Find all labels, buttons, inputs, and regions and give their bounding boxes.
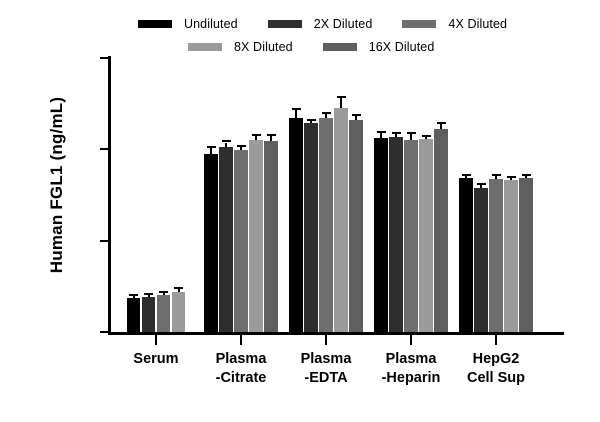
error-bar-cap: [507, 176, 516, 178]
error-bar-stem: [465, 176, 467, 178]
legend-item-8x-diluted[interactable]: 8X Diluted: [188, 40, 293, 54]
legend-label: 2X Diluted: [314, 17, 373, 31]
bar-2x-diluted[interactable]: [474, 58, 488, 332]
y-axis-title: Human FGL1 (ng/mL): [47, 40, 67, 330]
y-axis-tick: [100, 240, 109, 242]
x-axis-group-label: Plasma -Citrate: [196, 350, 286, 388]
legend-swatch-icon: [323, 43, 357, 51]
x-axis-tick: [495, 335, 497, 345]
legend-swatch-icon: [402, 20, 436, 28]
legend-label: 16X Diluted: [369, 40, 435, 54]
bar-group-hepg2-cell-sup: [110, 58, 562, 332]
bar-rect: [504, 180, 518, 332]
error-bar-stem: [495, 176, 497, 179]
bar-rect: [474, 188, 488, 332]
bar-8x-diluted[interactable]: [504, 58, 518, 332]
bar-4x-diluted[interactable]: [489, 58, 503, 332]
error-bar-cap: [477, 183, 486, 185]
x-axis-tick: [240, 335, 242, 345]
legend-item-2x-diluted[interactable]: 2X Diluted: [268, 17, 373, 31]
bar-16x-diluted[interactable]: [519, 58, 533, 332]
legend-label: Undiluted: [184, 17, 238, 31]
error-bar-cap: [492, 174, 501, 176]
x-axis-group-label: Plasma -Heparin: [366, 350, 456, 388]
plot-area: 0200400600: [110, 58, 562, 332]
legend-swatch-icon: [138, 20, 172, 28]
x-axis-group-label: HepG2 Cell Sup: [451, 350, 541, 388]
x-axis-tick: [410, 335, 412, 345]
legend-label: 8X Diluted: [234, 40, 293, 54]
legend-swatch-icon: [268, 20, 302, 28]
bar-rect: [519, 178, 533, 332]
legend-swatch-icon: [188, 43, 222, 51]
y-axis-tick: [100, 57, 109, 59]
legend-item-4x-diluted[interactable]: 4X Diluted: [402, 17, 507, 31]
x-axis-tick: [155, 335, 157, 345]
bar-rect: [459, 178, 473, 332]
legend-item-undiluted[interactable]: Undiluted: [138, 17, 238, 31]
legend-label: 4X Diluted: [448, 17, 507, 31]
error-bar-cap: [462, 174, 471, 176]
x-axis-group-label: Plasma -EDTA: [281, 350, 371, 388]
bar-undiluted[interactable]: [459, 58, 473, 332]
legend-row: Undiluted2X Diluted4X Diluted: [130, 12, 590, 35]
legend-row: 8X Diluted16X Diluted: [130, 35, 590, 58]
x-axis-tick: [325, 335, 327, 345]
error-bar-stem: [510, 178, 512, 180]
error-bar-cap: [522, 174, 531, 176]
legend-item-16x-diluted[interactable]: 16X Diluted: [323, 40, 435, 54]
x-axis-group-label: Serum: [111, 350, 201, 369]
chart-legend: Undiluted2X Diluted4X Diluted8X Diluted1…: [130, 12, 590, 62]
y-axis-tick: [100, 331, 109, 333]
error-bar-stem: [525, 176, 527, 178]
bar-chart: Undiluted2X Diluted4X Diluted8X Diluted1…: [0, 0, 600, 422]
error-bar-stem: [480, 185, 482, 188]
bar-rect: [489, 179, 503, 332]
y-axis-tick: [100, 148, 109, 150]
